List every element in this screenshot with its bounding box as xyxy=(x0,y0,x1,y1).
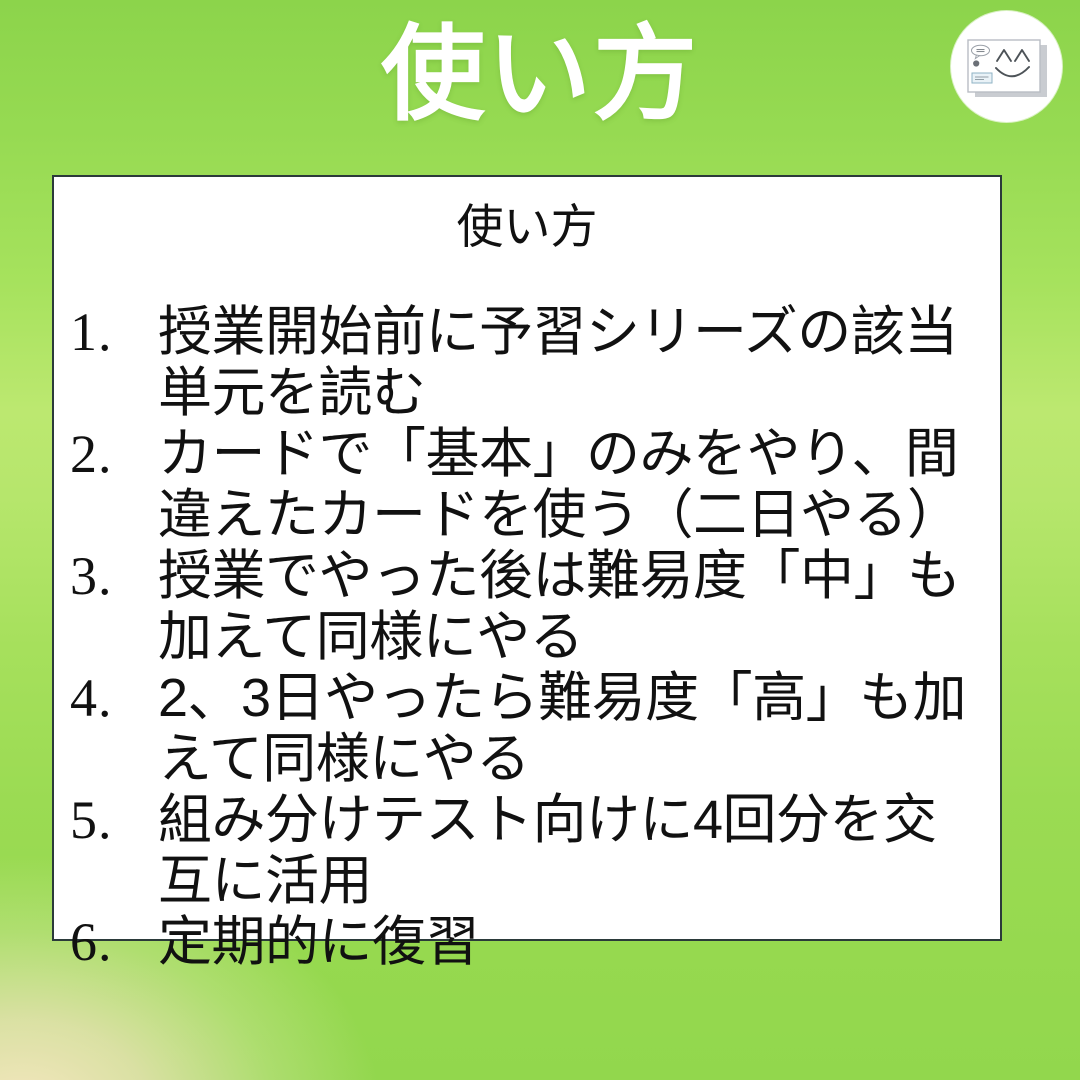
list-item-text: 授業開始前に予習シリーズの該当単元を読む xyxy=(158,302,992,424)
list-item: 6. 定期的に復習 xyxy=(54,912,1000,973)
list-item: 1. 授業開始前に予習シリーズの該当単元を読む xyxy=(54,302,1000,424)
smiling-flashcard-logo-icon xyxy=(951,11,1062,122)
list-item-text: カードで「基本」のみをやり、間違えたカードを使う（二日やる） xyxy=(158,424,992,546)
list-item: 3. 授業でやった後は難易度「中」も加えて同様にやる xyxy=(54,546,1000,668)
logo-badge[interactable] xyxy=(951,11,1062,122)
list-item: 5. 組み分けテスト向けに4回分を交互に活用 xyxy=(54,790,1000,912)
list-item-number: 2. xyxy=(62,424,158,485)
header: 使い方 xyxy=(0,0,1080,160)
content-card: 使い方 1. 授業開始前に予習シリーズの該当単元を読む 2. カードで「基本」の… xyxy=(52,175,1002,941)
steps-list: 1. 授業開始前に予習シリーズの該当単元を読む 2. カードで「基本」のみをやり… xyxy=(54,302,1000,932)
list-item-text: 組み分けテスト向けに4回分を交互に活用 xyxy=(158,790,992,912)
page-title: 使い方 xyxy=(0,10,1080,140)
list-item: 2. カードで「基本」のみをやり、間違えたカードを使う（二日やる） xyxy=(54,424,1000,546)
list-item-number: 1. xyxy=(62,302,158,363)
list-item-number: 5. xyxy=(62,790,158,851)
list-item-text: 定期的に復習 xyxy=(158,912,992,973)
slide-canvas: 使い方 xyxy=(0,0,1080,1080)
list-item-text: 2、3日やったら難易度「高」も加えて同様にやる xyxy=(158,668,992,790)
list-item-number: 3. xyxy=(62,546,158,607)
list-item-number: 6. xyxy=(62,912,158,973)
list-item-number: 4. xyxy=(62,668,158,729)
card-heading: 使い方 xyxy=(54,198,1000,256)
list-item: 4. 2、3日やったら難易度「高」も加えて同様にやる xyxy=(54,668,1000,790)
list-item-text: 授業でやった後は難易度「中」も加えて同様にやる xyxy=(158,546,992,668)
